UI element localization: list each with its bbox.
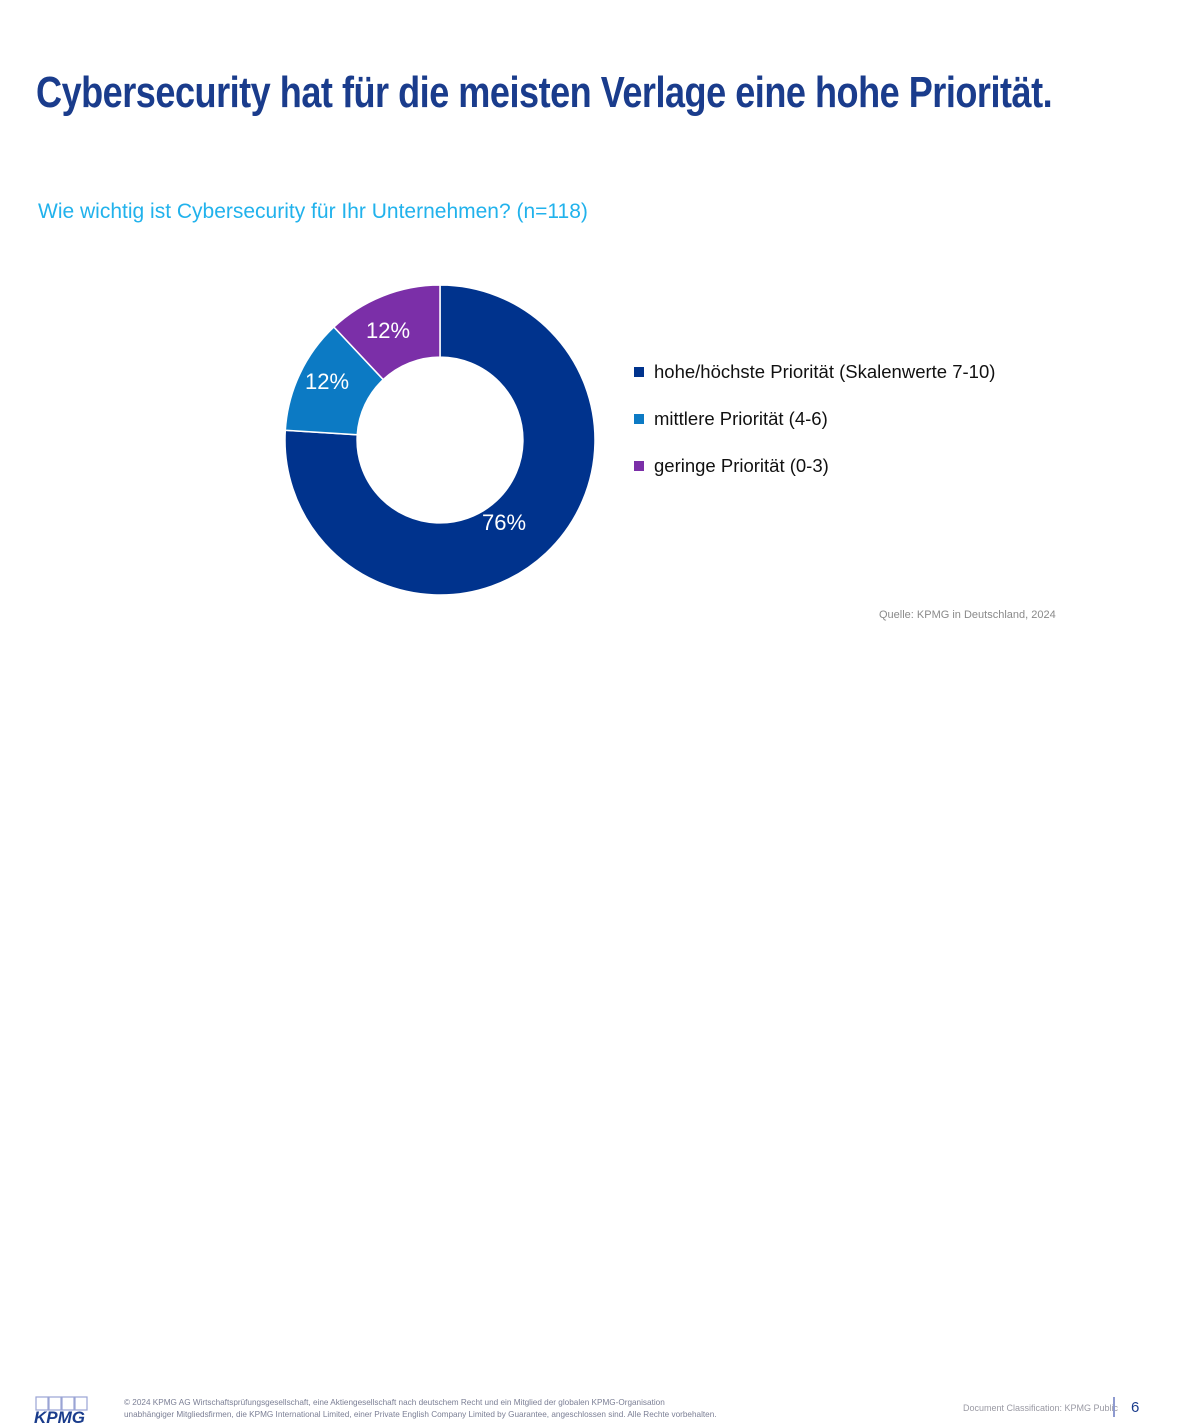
- page-number: 6: [1131, 1399, 1139, 1417]
- legend-item-label: geringe Priorität (0-3): [654, 455, 829, 477]
- donut-graphic: [285, 285, 595, 595]
- legend-item-label: hohe/höchste Priorität (Skalenwerte 7-10…: [654, 361, 995, 383]
- legend-swatch-icon: [634, 461, 644, 471]
- svg-text:KPMG: KPMG: [34, 1408, 85, 1427]
- slide-footer: KPMG © 2024 KPMG AG Wirtschaftsprüfungsg…: [0, 690, 1200, 750]
- legend-item-mittlere-prioritaet: mittlere Priorität (4-6): [634, 395, 1104, 442]
- page-title: Cybersecurity hat für die meisten Verlag…: [36, 66, 963, 120]
- legend-item-geringe-prioritaet: geringe Priorität (0-3): [634, 442, 1104, 489]
- legend-swatch-icon: [634, 367, 644, 377]
- footer-divider: [1113, 1397, 1115, 1417]
- slide-canvas: Cybersecurity hat für die meisten Verlag…: [0, 0, 1200, 800]
- donut-chart: 76% 12% 12%: [270, 275, 620, 605]
- footer-legal-line-2: unabhängiger Mitgliedsfirmen, die KPMG I…: [124, 1409, 764, 1421]
- legend-item-hohe-prioritaet: hohe/höchste Priorität (Skalenwerte 7-10…: [634, 348, 1104, 395]
- chart-question-subtitle: Wie wichtig ist Cybersecurity für Ihr Un…: [38, 199, 588, 225]
- footer-legal-text: © 2024 KPMG AG Wirtschaftsprüfungsgesell…: [124, 1397, 764, 1420]
- chart-legend: hohe/höchste Priorität (Skalenwerte 7-10…: [634, 348, 1104, 489]
- legend-swatch-icon: [634, 414, 644, 424]
- kpmg-logo-icon: KPMG: [28, 1394, 98, 1428]
- footer-legal-line-1: © 2024 KPMG AG Wirtschaftsprüfungsgesell…: [124, 1397, 764, 1409]
- legend-item-label: mittlere Priorität (4-6): [654, 408, 828, 430]
- document-classification-label: Document Classification: KPMG Public: [963, 1402, 1118, 1415]
- chart-source-note: Quelle: KPMG in Deutschland, 2024: [879, 608, 1056, 622]
